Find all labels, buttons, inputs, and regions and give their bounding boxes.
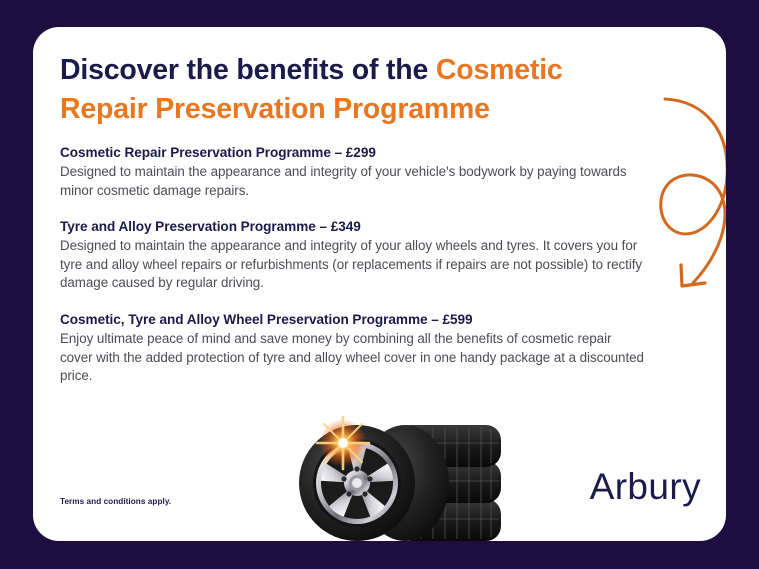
sparkle-star-icon: [317, 417, 369, 469]
tyre-stack-image: [285, 413, 510, 541]
programme-heading: Cosmetic Repair Preservation Programme –…: [60, 143, 645, 162]
programme-item-cosmetic: Cosmetic Repair Preservation Programme –…: [60, 143, 645, 200]
headline-accent-line2: Repair Preservation Programme: [60, 93, 490, 125]
headline-lead: Discover the benefits of the: [60, 54, 436, 86]
programme-description: Designed to maintain the appearance and …: [60, 163, 645, 200]
programme-item-tyre-alloy: Tyre and Alloy Preservation Programme – …: [60, 217, 645, 293]
headline-accent-line1: Cosmetic: [436, 54, 563, 86]
programme-description: Designed to maintain the appearance and …: [60, 237, 645, 293]
programme-heading: Tyre and Alloy Preservation Programme – …: [60, 217, 645, 236]
terms-and-conditions: Terms and conditions apply.: [60, 497, 171, 506]
programme-list: Cosmetic Repair Preservation Programme –…: [60, 143, 645, 386]
poster-canvas: Discover the benefits of the Cosmetic Re…: [0, 0, 759, 569]
content-card: Discover the benefits of the Cosmetic Re…: [33, 27, 726, 541]
programme-description: Enjoy ultimate peace of mind and save mo…: [60, 330, 645, 386]
page-title: Discover the benefits of the Cosmetic Re…: [60, 51, 640, 129]
programme-heading: Cosmetic, Tyre and Alloy Wheel Preservat…: [60, 310, 645, 329]
brand-logo: Arbury: [590, 468, 701, 505]
programme-item-combined: Cosmetic, Tyre and Alloy Wheel Preservat…: [60, 310, 645, 386]
